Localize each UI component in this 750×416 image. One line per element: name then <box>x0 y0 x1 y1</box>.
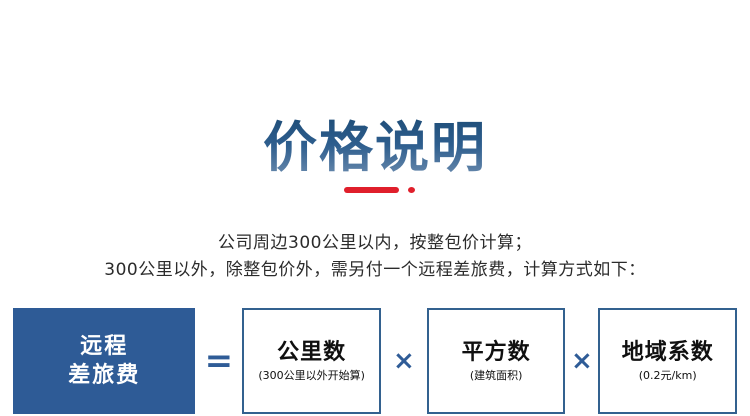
formula-term-area-label: 平方数 <box>462 339 531 367</box>
description-line-2: 300公里以外，除整包价外，需另付一个远程差旅费，计算方式如下： <box>0 257 750 284</box>
price-explanation-page: 价格说明 公司周边300公里以内，按整包价计算； 300公里以外，除整包价外，需… <box>0 0 750 416</box>
multiply-operator-icon-1: × <box>381 308 427 414</box>
formula-term-region-label: 地域系数 <box>622 339 714 367</box>
formula-term-area: 平方数 (建筑面积) <box>427 308 566 414</box>
formula-row: 远程 差旅费 = 公里数 (300公里以外开始算) × 平方数 (建筑面积) ×… <box>0 308 750 414</box>
formula-term-region-note: (0.2元/km) <box>639 368 697 383</box>
multiply-operator-icon-2: × <box>565 308 598 414</box>
formula-term-distance-label: 公里数 <box>277 339 346 367</box>
formula-result-label-line2: 差旅费 <box>68 361 140 390</box>
description-line-1: 公司周边300公里以内，按整包价计算； <box>0 230 750 257</box>
formula-term-distance-note: (300公里以外开始算) <box>258 368 365 383</box>
equals-operator-icon: = <box>195 308 242 414</box>
description-text: 公司周边300公里以内，按整包价计算； 300公里以外，除整包价外，需另付一个远… <box>0 230 750 284</box>
accent-dot-icon <box>408 187 415 193</box>
formula-term-area-note: (建筑面积) <box>470 368 523 383</box>
formula-result-label-line1: 远程 <box>80 332 128 361</box>
accent-bar-icon <box>344 187 399 193</box>
page-title: 价格说明 <box>263 118 487 178</box>
title-accent-decoration <box>0 185 750 195</box>
formula-term-region-coefficient: 地域系数 (0.2元/km) <box>598 308 737 414</box>
formula-term-distance: 公里数 (300公里以外开始算) <box>242 308 381 414</box>
formula-result-box: 远程 差旅费 <box>13 308 195 414</box>
